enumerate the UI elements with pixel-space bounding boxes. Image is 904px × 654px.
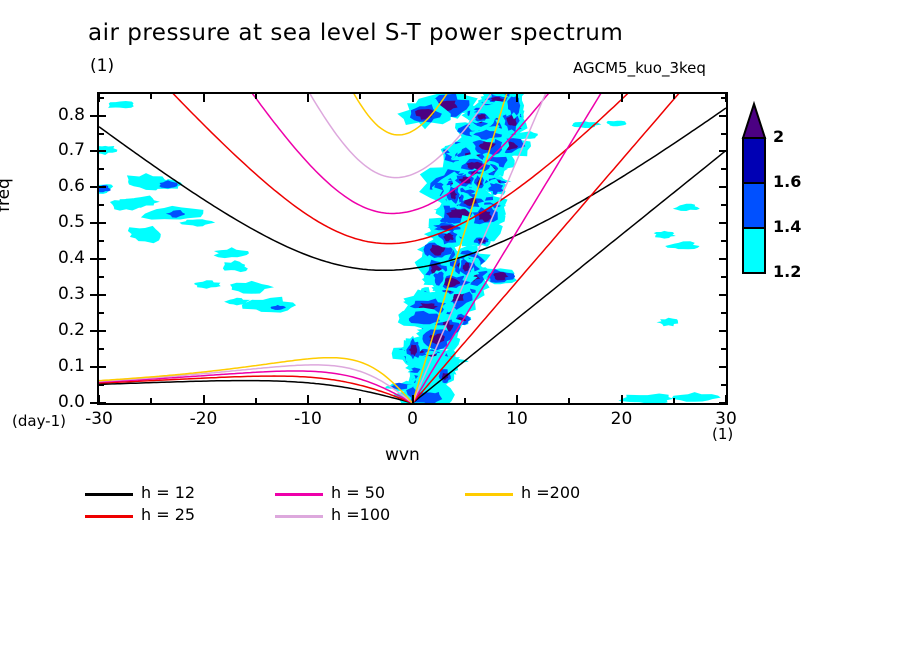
x-minor-tick: [673, 94, 675, 99]
x-axis-title: wvn: [385, 445, 420, 465]
colorbar-extend-arrow: [743, 104, 765, 138]
legend-line-swatch: [275, 515, 323, 518]
y-tick-inner: [99, 366, 106, 368]
plot-area: 0.00.10.20.30.40.50.60.70.8 -30-20-10010…: [97, 92, 728, 405]
panel-number-label: (1): [90, 56, 114, 76]
y-tick-mark: [90, 150, 99, 152]
y-tick-mark: [90, 294, 99, 296]
x-tick-label: 0: [383, 409, 443, 429]
legend-line-swatch: [85, 493, 133, 496]
y-tick-right: [719, 294, 726, 296]
y-tick-inner: [99, 402, 106, 404]
y-minor-tick: [721, 240, 726, 242]
y-tick-label: 0.6: [58, 176, 85, 196]
colorbar-tick-label: 2: [773, 127, 784, 146]
y-axis-units-label: (day-1): [12, 412, 66, 430]
y-minor-tick: [99, 312, 104, 314]
x-tick-top: [203, 94, 205, 102]
y-tick-right: [719, 115, 726, 117]
page-title: air pressure at sea level S-T power spec…: [88, 20, 788, 46]
colorbar-tick-label: 1.2: [773, 262, 801, 281]
y-tick-inner: [99, 186, 106, 188]
x-tick-top: [621, 94, 623, 102]
x-tick-mark: [307, 395, 309, 403]
x-minor-tick: [255, 94, 257, 99]
x-tick-label: 10: [487, 409, 547, 429]
y-tick-mark: [90, 115, 99, 117]
x-tick-label: -10: [278, 409, 338, 429]
y-tick-mark: [90, 330, 99, 332]
y-minor-tick: [721, 204, 726, 206]
y-minor-tick: [721, 276, 726, 278]
x-tick-top: [725, 94, 727, 102]
x-tick-top: [307, 94, 309, 102]
x-minor-tick: [150, 94, 152, 99]
legend: h = 12h = 25h = 50h =100h =200: [85, 485, 725, 531]
x-tick-top: [98, 94, 100, 102]
y-tick-inner: [99, 150, 106, 152]
y-minor-tick: [721, 348, 726, 350]
colorbar-segment: [743, 138, 765, 183]
y-axis-title: freq: [0, 178, 14, 212]
x-tick-label: -20: [174, 409, 234, 429]
x-tick-mark: [98, 395, 100, 403]
x-minor-tick: [464, 94, 466, 99]
colorbar-tick-label: 1.4: [773, 217, 801, 236]
colorbar: 21.61.41.2: [737, 100, 897, 310]
legend-item-label: h =100: [331, 505, 390, 524]
legend-line-swatch: [85, 515, 133, 518]
y-tick-right: [719, 222, 726, 224]
x-minor-tick: [464, 398, 466, 403]
y-tick-inner: [99, 330, 106, 332]
y-minor-tick: [99, 276, 104, 278]
y-minor-tick: [99, 204, 104, 206]
spectrum-plot: [99, 94, 726, 403]
figure-canvas: air pressure at sea level S-T power spec…: [0, 0, 904, 654]
colorbar-segment: [743, 183, 765, 228]
x-minor-tick: [150, 398, 152, 403]
x-minor-tick: [568, 94, 570, 99]
y-minor-tick: [721, 133, 726, 135]
y-tick-inner: [99, 115, 106, 117]
y-tick-label: 0.4: [58, 248, 85, 268]
x-minor-tick: [673, 398, 675, 403]
y-tick-label: 0.1: [58, 356, 85, 376]
y-minor-tick: [99, 384, 104, 386]
y-minor-tick: [99, 240, 104, 242]
colorbar-segment: [743, 228, 765, 273]
y-tick-right: [719, 330, 726, 332]
x-tick-top: [516, 94, 518, 102]
legend-line-swatch: [465, 493, 513, 496]
y-minor-tick: [99, 348, 104, 350]
x-tick-mark: [621, 395, 623, 403]
colorbar-tick-label: 1.6: [773, 172, 801, 191]
x-tick-top: [412, 94, 414, 102]
x-tick-label: 20: [592, 409, 652, 429]
y-tick-inner: [99, 294, 106, 296]
x-minor-tick: [568, 398, 570, 403]
y-tick-right: [719, 258, 726, 260]
y-tick-right: [719, 366, 726, 368]
x-tick-mark: [516, 395, 518, 403]
y-tick-label: 0.7: [58, 140, 85, 160]
y-tick-mark: [90, 366, 99, 368]
x-minor-tick: [255, 398, 257, 403]
x-tick-mark: [203, 395, 205, 403]
y-tick-label: 0.8: [58, 105, 85, 125]
y-tick-inner: [99, 222, 106, 224]
x-tick-label: -30: [69, 409, 129, 429]
y-tick-mark: [90, 186, 99, 188]
y-tick-mark: [90, 222, 99, 224]
dataset-name-label: AGCM5_kuo_3keq: [573, 59, 706, 77]
y-minor-tick: [99, 133, 104, 135]
x-minor-tick: [359, 398, 361, 403]
y-tick-label: 0.5: [58, 212, 85, 232]
legend-line-swatch: [275, 493, 323, 496]
y-tick-right: [719, 150, 726, 152]
y-minor-tick: [99, 168, 104, 170]
legend-item-label: h = 25: [141, 505, 195, 524]
y-tick-inner: [99, 258, 106, 260]
y-minor-tick: [721, 384, 726, 386]
x-axis-units-label: (1): [712, 425, 733, 443]
x-minor-tick: [359, 94, 361, 99]
x-tick-mark: [412, 395, 414, 403]
y-tick-label: 0.2: [58, 320, 85, 340]
x-tick-mark: [725, 395, 727, 403]
y-tick-right: [719, 186, 726, 188]
legend-item-label: h = 12: [141, 483, 195, 502]
y-tick-label: 0.3: [58, 284, 85, 304]
legend-item-label: h = 50: [331, 483, 385, 502]
y-minor-tick: [721, 312, 726, 314]
y-tick-mark: [90, 258, 99, 260]
y-minor-tick: [721, 168, 726, 170]
legend-item-label: h =200: [521, 483, 580, 502]
